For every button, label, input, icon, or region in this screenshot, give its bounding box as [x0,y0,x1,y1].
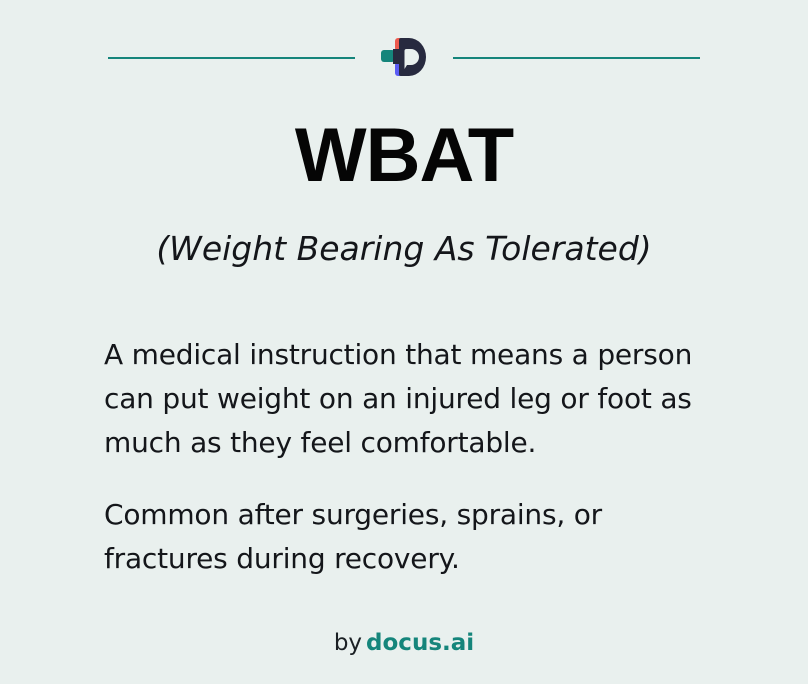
term-expansion: (Weight Bearing As Tolerated) [0,228,808,269]
attribution: bydocus.ai [0,628,808,658]
term-title: WBAT [0,118,808,194]
definition-card: WBAT (Weight Bearing As Tolerated) A med… [0,0,808,684]
brand-link[interactable]: docus.ai [366,630,474,656]
divider-line-left [108,57,355,59]
definition-paragraph: Common after surgeries, sprains, or frac… [104,493,704,581]
attribution-prefix: by [334,630,362,656]
definition-paragraph: A medical instruction that means a perso… [104,333,704,465]
card-header [0,28,808,88]
logo-cross-left [381,50,395,62]
divider-line-right [453,57,700,59]
docus-logo-icon [381,36,427,80]
definition-body: A medical instruction that means a perso… [104,333,704,581]
